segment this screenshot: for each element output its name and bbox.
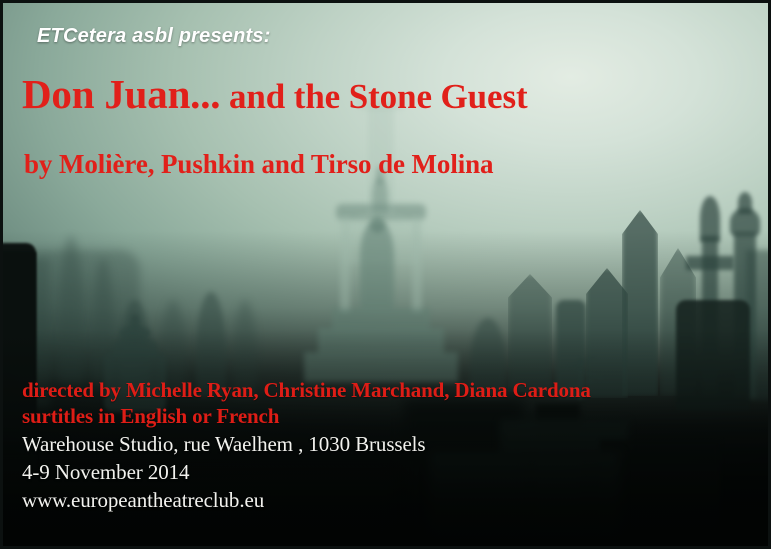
credits-line-directors: directed by Michelle Ryan, Christine Mar… [22, 377, 591, 403]
venue-dates: 4-9 November 2014 [22, 458, 426, 486]
presenter-line: ETCetera asbl presents: [37, 25, 271, 48]
venue-address: Warehouse Studio, rue Waelhem , 1030 Bru… [22, 430, 426, 458]
poster-title: Don Juan... and the Stone Guest [22, 74, 528, 115]
title-subtitle: and the Stone Guest [220, 77, 527, 116]
authors-line: by Molière, Pushkin and Tirso de Molina [24, 149, 493, 180]
theatre-poster: ETCetera asbl presents: Don Juan... and … [0, 0, 771, 549]
venue-website[interactable]: www.europeantheatreclub.eu [22, 486, 426, 514]
title-main: Don Juan... [22, 71, 220, 117]
credits-line-surtitles: surtitles in English or French [22, 403, 591, 429]
venue-block: Warehouse Studio, rue Waelhem , 1030 Bru… [22, 430, 426, 514]
credits-block: directed by Michelle Ryan, Christine Mar… [22, 377, 591, 429]
poster-text-content: ETCetera asbl presents: Don Juan... and … [0, 0, 771, 549]
